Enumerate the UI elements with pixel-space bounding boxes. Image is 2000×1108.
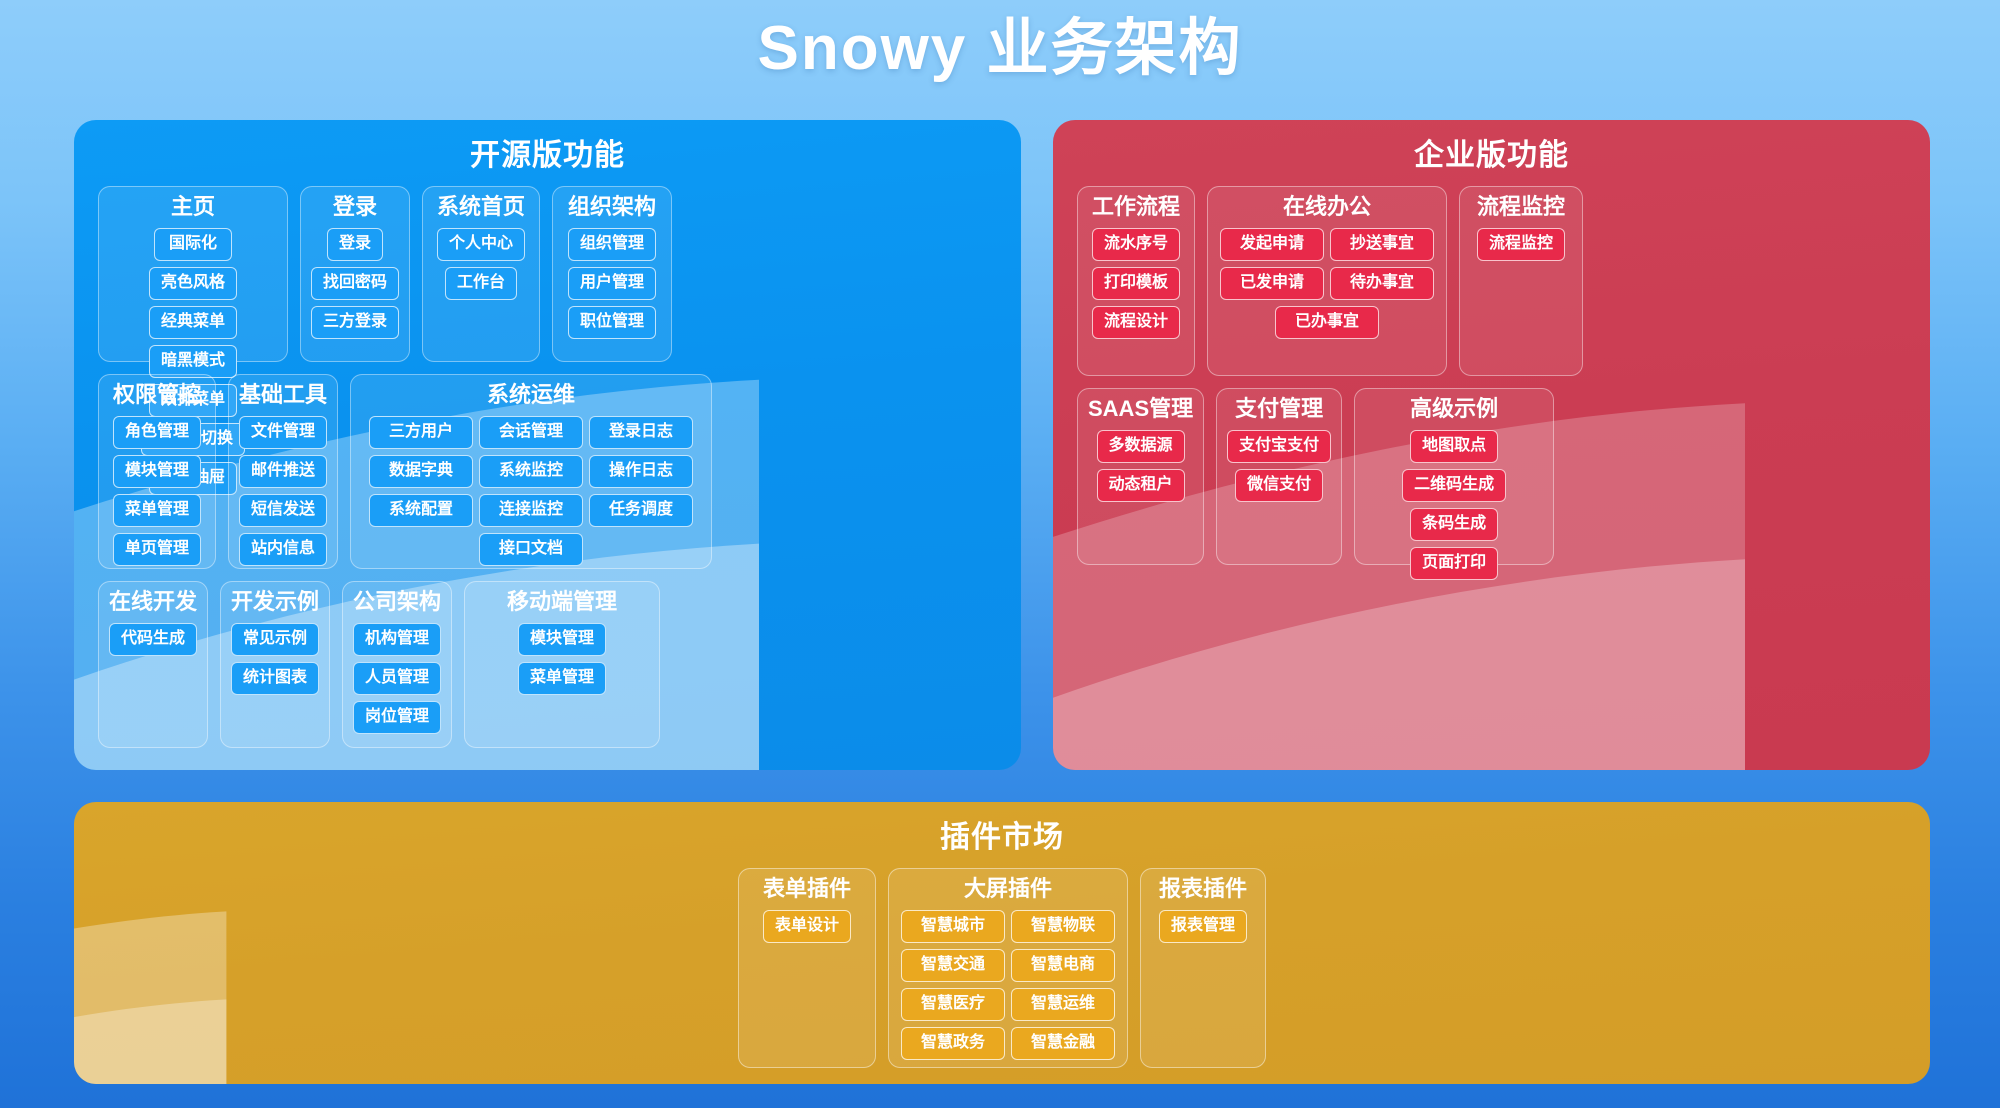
page-title: Snowy 业务架构 <box>0 0 2000 84</box>
chip-cc-matters[interactable]: 抄送事宜 <box>1330 228 1434 261</box>
chip-staff-management[interactable]: 人员管理 <box>353 662 441 695</box>
card-title-home: 主页 <box>109 193 277 221</box>
card-company-structure: 公司架构 机构管理 人员管理 岗位管理 <box>342 581 452 748</box>
chip-qrcode-generate[interactable]: 二维码生成 <box>1402 469 1506 502</box>
chip-light-theme[interactable]: 亮色风格 <box>149 267 237 300</box>
architecture-board: 开源版功能 主页 国际化 亮色风格 经典菜单 暗黑模式 双排菜单 主题色切换 设… <box>74 120 1930 1086</box>
chip-forgot-password[interactable]: 找回密码 <box>311 267 399 300</box>
chip-smart-ecommerce[interactable]: 智慧电商 <box>1011 949 1115 982</box>
chip-position-management[interactable]: 职位管理 <box>568 306 656 339</box>
chip-file-management[interactable]: 文件管理 <box>239 416 327 449</box>
chip-site-message[interactable]: 站内信息 <box>239 533 327 566</box>
enterprise-panel: 企业版功能 工作流程 流水序号 打印模板 流程设计 在线办公 发起申请 <box>1053 120 1930 770</box>
enterprise-row-2: SAAS管理 多数据源 动态租户 支付管理 支付宝支付 微信支付 <box>1077 388 1906 565</box>
chip-smart-ops[interactable]: 智慧运维 <box>1011 988 1115 1021</box>
chip-post-management[interactable]: 岗位管理 <box>353 701 441 734</box>
chip-page-management[interactable]: 单页管理 <box>113 533 201 566</box>
chip-alipay[interactable]: 支付宝支付 <box>1227 430 1331 463</box>
chip-done-matters[interactable]: 已办事宜 <box>1275 306 1379 339</box>
card-form-plugin: 表单插件 表单设计 <box>738 868 876 1068</box>
card-title-payment-management: 支付管理 <box>1227 395 1331 423</box>
chip-process-design[interactable]: 流程设计 <box>1092 306 1180 339</box>
card-report-plugin: 报表插件 报表管理 <box>1140 868 1266 1068</box>
chip-system-monitor[interactable]: 系统监控 <box>479 455 583 488</box>
chip-org-management[interactable]: 组织管理 <box>568 228 656 261</box>
enterprise-row-1: 工作流程 流水序号 打印模板 流程设计 在线办公 发起申请 抄送事宜 已发申请 <box>1077 186 1906 376</box>
card-online-office: 在线办公 发起申请 抄送事宜 已发申请 待办事宜 已办事宜 <box>1207 186 1447 376</box>
card-dev-examples: 开发示例 常见示例 统计图表 <box>220 581 330 748</box>
card-title-process-monitor: 流程监控 <box>1470 193 1572 221</box>
card-bigscreen-plugin: 大屏插件 智慧城市 智慧物联 智慧交通 智慧电商 智慧医疗 智慧运维 智慧政务 … <box>888 868 1128 1068</box>
card-title-org-structure: 组织架构 <box>563 193 661 221</box>
card-saas-management: SAAS管理 多数据源 动态租户 <box>1077 388 1204 565</box>
card-title-system-home: 系统首页 <box>433 193 529 221</box>
chip-role-management[interactable]: 角色管理 <box>113 416 201 449</box>
chip-task-schedule[interactable]: 任务调度 <box>589 494 693 527</box>
chip-login[interactable]: 登录 <box>327 228 383 261</box>
open-source-row-2: 权限管控 角色管理 模块管理 菜单管理 单页管理 基础工具 文件管理 邮件推送 <box>98 374 997 569</box>
card-title-system-ops: 系统运维 <box>361 381 701 409</box>
chip-smart-medical[interactable]: 智慧医疗 <box>901 988 1005 1021</box>
plugin-market-panel: 插件市场 表单插件 表单设计 大屏插件 智慧城市 智慧物联 智慧交通 智慧电商 <box>74 802 1930 1084</box>
chip-map-picker[interactable]: 地图取点 <box>1410 430 1498 463</box>
chip-third-party-user[interactable]: 三方用户 <box>369 416 473 449</box>
chip-mobile-menu-management[interactable]: 菜单管理 <box>518 662 606 695</box>
chip-operation-log[interactable]: 操作日志 <box>589 455 693 488</box>
chip-i18n[interactable]: 国际化 <box>154 228 232 261</box>
card-title-mobile-management: 移动端管理 <box>475 588 649 616</box>
card-title-report-plugin: 报表插件 <box>1151 875 1255 903</box>
card-title-login: 登录 <box>311 193 399 221</box>
enterprise-panel-title: 企业版功能 <box>1077 138 1906 174</box>
card-title-saas-management: SAAS管理 <box>1088 395 1193 423</box>
chip-api-doc[interactable]: 接口文档 <box>479 533 583 566</box>
card-advanced-examples: 高级示例 地图取点 二维码生成 条码生成 页面打印 <box>1354 388 1554 565</box>
chip-session-management[interactable]: 会话管理 <box>479 416 583 449</box>
card-title-advanced-examples: 高级示例 <box>1365 395 1543 423</box>
top-panels-row: 开源版功能 主页 国际化 亮色风格 经典菜单 暗黑模式 双排菜单 主题色切换 设… <box>74 120 1930 770</box>
chip-process-monitor[interactable]: 流程监控 <box>1477 228 1565 261</box>
chip-page-print[interactable]: 页面打印 <box>1410 547 1498 580</box>
card-permission-control: 权限管控 角色管理 模块管理 菜单管理 单页管理 <box>98 374 216 569</box>
chip-smart-transport[interactable]: 智慧交通 <box>901 949 1005 982</box>
chip-module-management[interactable]: 模块管理 <box>113 455 201 488</box>
chip-code-generation[interactable]: 代码生成 <box>109 623 197 656</box>
card-system-ops: 系统运维 三方用户 会话管理 登录日志 数据字典 系统监控 操作日志 系统配置 … <box>350 374 712 569</box>
chip-dynamic-tenant[interactable]: 动态租户 <box>1097 469 1185 502</box>
chip-smart-iot[interactable]: 智慧物联 <box>1011 910 1115 943</box>
chip-classic-menu[interactable]: 经典菜单 <box>149 306 237 339</box>
chip-sms-send[interactable]: 短信发送 <box>239 494 327 527</box>
chip-login-log[interactable]: 登录日志 <box>589 416 693 449</box>
card-title-dev-examples: 开发示例 <box>231 588 319 616</box>
card-title-online-dev: 在线开发 <box>109 588 197 616</box>
chip-smart-finance[interactable]: 智慧金融 <box>1011 1027 1115 1060</box>
chip-email-push[interactable]: 邮件推送 <box>239 455 327 488</box>
chip-report-management[interactable]: 报表管理 <box>1159 910 1247 943</box>
chip-wechat-pay[interactable]: 微信支付 <box>1235 469 1323 502</box>
plugin-market-panel-title: 插件市场 <box>98 820 1906 856</box>
card-title-online-office: 在线办公 <box>1218 193 1436 221</box>
open-source-row-3: 在线开发 代码生成 开发示例 常见示例 统计图表 公司架构 <box>98 581 997 748</box>
chip-mobile-module-management[interactable]: 模块管理 <box>518 623 606 656</box>
open-source-row-1: 主页 国际化 亮色风格 经典菜单 暗黑模式 双排菜单 主题色切换 设置抽屉 登录 <box>98 186 997 362</box>
chip-personal-center[interactable]: 个人中心 <box>437 228 525 261</box>
chip-connection-monitor[interactable]: 连接监控 <box>479 494 583 527</box>
plugin-market-row-1: 表单插件 表单设计 大屏插件 智慧城市 智慧物联 智慧交通 智慧电商 智慧医疗 … <box>98 868 1906 1068</box>
open-source-panel-title: 开源版功能 <box>98 138 997 174</box>
card-mobile-management: 移动端管理 模块管理 菜单管理 <box>464 581 660 748</box>
chip-menu-management[interactable]: 菜单管理 <box>113 494 201 527</box>
chip-barcode-generate[interactable]: 条码生成 <box>1410 508 1498 541</box>
card-basic-tools: 基础工具 文件管理 邮件推送 短信发送 站内信息 <box>228 374 338 569</box>
chip-todo-matters[interactable]: 待办事宜 <box>1330 267 1434 300</box>
chip-smart-city[interactable]: 智慧城市 <box>901 910 1005 943</box>
chip-third-party-login[interactable]: 三方登录 <box>311 306 399 339</box>
card-org-structure: 组织架构 组织管理 用户管理 职位管理 <box>552 186 672 362</box>
chip-print-template[interactable]: 打印模板 <box>1092 267 1180 300</box>
card-title-company-structure: 公司架构 <box>353 588 441 616</box>
chip-sent-applications[interactable]: 已发申请 <box>1220 267 1324 300</box>
card-online-dev: 在线开发 代码生成 <box>98 581 208 748</box>
card-process-monitor: 流程监控 流程监控 <box>1459 186 1583 376</box>
chip-institution-management[interactable]: 机构管理 <box>353 623 441 656</box>
chip-form-design[interactable]: 表单设计 <box>763 910 851 943</box>
chip-user-management[interactable]: 用户管理 <box>568 267 656 300</box>
chip-common-examples[interactable]: 常见示例 <box>231 623 319 656</box>
chip-dark-mode[interactable]: 暗黑模式 <box>149 345 237 378</box>
card-payment-management: 支付管理 支付宝支付 微信支付 <box>1216 388 1342 565</box>
chip-workbench[interactable]: 工作台 <box>445 267 517 300</box>
card-title-permission-control: 权限管控 <box>109 381 205 409</box>
card-home: 主页 国际化 亮色风格 经典菜单 暗黑模式 双排菜单 主题色切换 设置抽屉 <box>98 186 288 362</box>
card-login: 登录 登录 找回密码 三方登录 <box>300 186 410 362</box>
open-source-panel: 开源版功能 主页 国际化 亮色风格 经典菜单 暗黑模式 双排菜单 主题色切换 设… <box>74 120 1021 770</box>
card-title-workflow: 工作流程 <box>1088 193 1184 221</box>
card-system-home: 系统首页 个人中心 工作台 <box>422 186 540 362</box>
chip-multi-datasource[interactable]: 多数据源 <box>1097 430 1185 463</box>
chip-initiate-application[interactable]: 发起申请 <box>1220 228 1324 261</box>
card-workflow: 工作流程 流水序号 打印模板 流程设计 <box>1077 186 1195 376</box>
chip-serial-number[interactable]: 流水序号 <box>1092 228 1180 261</box>
chip-system-config[interactable]: 系统配置 <box>369 494 473 527</box>
chip-data-dictionary[interactable]: 数据字典 <box>369 455 473 488</box>
card-title-form-plugin: 表单插件 <box>749 875 865 903</box>
card-title-bigscreen-plugin: 大屏插件 <box>899 875 1117 903</box>
card-title-basic-tools: 基础工具 <box>239 381 327 409</box>
chip-smart-government[interactable]: 智慧政务 <box>901 1027 1005 1060</box>
chip-statistic-charts[interactable]: 统计图表 <box>231 662 319 695</box>
